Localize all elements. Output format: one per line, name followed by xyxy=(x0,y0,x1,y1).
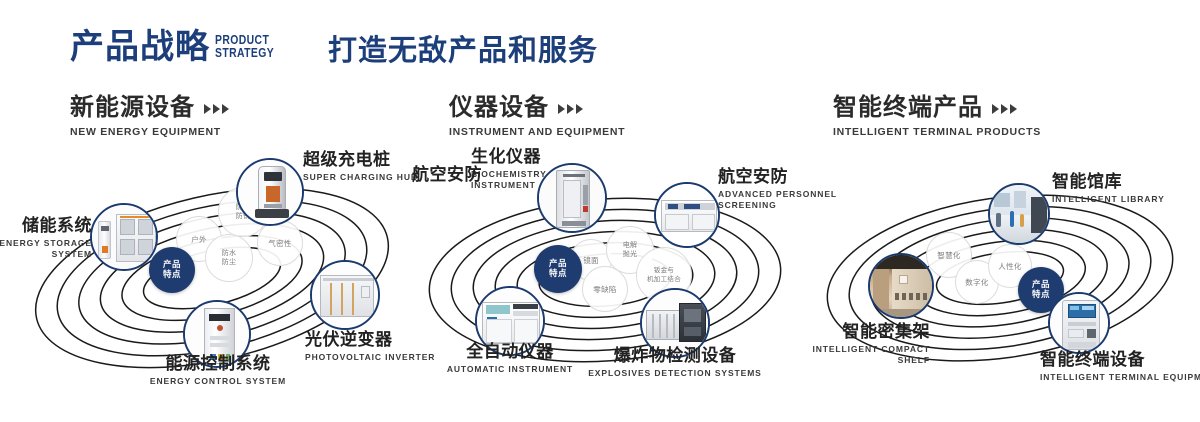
section-title-intelligent: 智能终端产品 xyxy=(833,92,983,122)
label-cn: 能源控制系统 xyxy=(95,354,341,374)
label-cn: 航空安防 xyxy=(412,165,532,185)
section-subtitle-new-energy: NEW ENERGY EQUIPMENT xyxy=(70,126,229,138)
core-bubble-product-features: 产品 特点 xyxy=(534,245,582,293)
feature-bubble-label: 零缺陷 xyxy=(593,285,616,294)
label-en: ENERGY CONTROL SYSTEM xyxy=(95,376,341,387)
label-energy-storage-system: 储能系统 ENERGY STORAGESYSTEM xyxy=(0,216,92,260)
label-cn: 生化仪器 xyxy=(471,147,621,167)
feature-bubble-label: 电解 xyxy=(623,241,638,250)
feature-bubble-label: 防水 xyxy=(222,249,237,258)
cluster-intelligent-terminal: 智慧化 数字化 人性化 产品 特点 智能馆库 xyxy=(800,150,1200,422)
section-heading-cn-wrap: 新能源设备 xyxy=(70,92,229,122)
feature-bubble: 气密性 xyxy=(257,220,303,266)
page-title: 产品战略 xyxy=(70,27,210,67)
section-heading-intelligent: 智能终端产品 INTELLIGENT TERMINAL PRODUCTS xyxy=(833,92,1041,138)
label-cn: 全自动仪器 xyxy=(395,342,625,362)
feature-bubble-label: 钣金与 xyxy=(654,266,674,275)
label-en: AUTOMATIC INSTRUMENT xyxy=(395,364,625,375)
node-photovoltaic-inverter[interactable] xyxy=(310,260,380,330)
core-bubble-line2: 特点 xyxy=(163,270,181,280)
energy-storage-cabinet-icon xyxy=(92,205,156,269)
chevron-right-icon xyxy=(992,104,1017,114)
product-strategy-infographic: 产品战略 PRODUCT STRATEGY 打造无敌产品和服务 新能源设备 NE… xyxy=(0,0,1200,422)
feature-bubble-label: 智慧化 xyxy=(937,251,960,260)
core-bubble-line2: 特点 xyxy=(549,269,567,279)
feature-bubble-label: 人性化 xyxy=(998,262,1021,271)
compact-shelving-icon xyxy=(870,255,932,317)
label-intelligent-library: 智能馆库 INTELLIGENT LIBRARY xyxy=(1052,172,1200,205)
label-automatic-instrument: 全自动仪器 AUTOMATIC INSTRUMENT xyxy=(395,342,625,375)
cluster-instrument: 镜面 电解抛光 钣金与机加工结合 零缺陷 产品 特点 xyxy=(400,150,820,422)
feature-bubble: 防水防尘 xyxy=(205,234,253,282)
feature-bubble-label2: 机加工结合 xyxy=(647,275,681,284)
section-heading-cn-wrap: 仪器设备 xyxy=(449,92,625,122)
label-aviation-security: 航空安防 xyxy=(412,165,532,185)
section-heading-cn-wrap: 智能终端产品 xyxy=(833,92,1041,122)
node-energy-storage-system[interactable] xyxy=(90,203,158,271)
node-super-charging-hub[interactable] xyxy=(236,158,304,226)
screening-machine-icon xyxy=(656,184,718,246)
headline: 打造无敌产品和服务 xyxy=(328,32,598,68)
feature-bubble-label2: 抛光 xyxy=(623,250,638,259)
feature-bubble: 零缺陷 xyxy=(582,266,628,312)
section-title-instrument: 仪器设备 xyxy=(449,92,549,122)
label-en: INTELLIGENT COMPACTSHELF xyxy=(740,344,930,366)
section-heading-instrument: 仪器设备 INSTRUMENT AND EQUIPMENT xyxy=(449,92,625,138)
feature-bubble-label: 镜面 xyxy=(583,256,599,265)
header: 产品战略 PRODUCT STRATEGY 打造无敌产品和服务 xyxy=(0,0,1200,88)
core-bubble-line1: 产品 xyxy=(549,259,567,269)
cluster-new-energy: 户外 防腐防锈 防水防尘 气密性 产品 特点 xyxy=(0,150,420,422)
charging-pile-icon xyxy=(238,160,302,224)
label-energy-control-system: 能源控制系统 ENERGY CONTROL SYSTEM xyxy=(95,354,341,387)
feature-bubble-label: 数字化 xyxy=(965,278,988,287)
node-intelligent-terminal-equipment[interactable] xyxy=(1048,292,1110,354)
label-en: INTELLIGENT LIBRARY xyxy=(1052,194,1200,205)
section-subtitle-intelligent: INTELLIGENT TERMINAL PRODUCTS xyxy=(833,126,1041,138)
node-intelligent-compact-shelf[interactable] xyxy=(868,253,934,319)
node-intelligent-library[interactable] xyxy=(988,183,1050,245)
section-title-new-energy: 新能源设备 xyxy=(70,92,195,122)
label-cn: 智能密集架 xyxy=(740,322,930,342)
core-bubble-line1: 产品 xyxy=(163,260,181,270)
chevron-right-icon xyxy=(204,104,229,114)
pv-inverter-cabinet-icon xyxy=(312,262,378,328)
label-cn: 智能终端设备 xyxy=(1040,350,1200,370)
label-intelligent-terminal-equipment: 智能终端设备 INTELLIGENT TERMINAL EQUIPMENT xyxy=(1040,350,1200,383)
feature-bubble-label: 户外 xyxy=(191,235,207,244)
node-advanced-personnel-screening[interactable] xyxy=(654,182,720,248)
section-subtitle-instrument: INSTRUMENT AND EQUIPMENT xyxy=(449,126,625,138)
label-en: ENERGY STORAGESYSTEM xyxy=(0,238,92,260)
library-interior-icon xyxy=(990,185,1048,243)
section-heading-new-energy: 新能源设备 NEW ENERGY EQUIPMENT xyxy=(70,92,229,138)
self-service-kiosk-icon xyxy=(1050,294,1108,352)
label-cn: 储能系统 xyxy=(0,216,92,236)
chevron-right-icon xyxy=(558,104,583,114)
core-bubble-line1: 产品 xyxy=(1032,280,1050,290)
brand-subtitle-line2: STRATEGY xyxy=(215,46,279,59)
core-bubble-line2: 特点 xyxy=(1032,290,1050,300)
feature-bubble-label2: 防尘 xyxy=(222,258,237,267)
brand-subtitle: PRODUCT STRATEGY xyxy=(215,33,279,59)
label-intelligent-compact-shelf: 智能密集架 INTELLIGENT COMPACTSHELF xyxy=(740,322,930,366)
label-en: INTELLIGENT TERMINAL EQUIPMENT xyxy=(1040,372,1200,383)
label-cn: 智能馆库 xyxy=(1052,172,1200,192)
feature-bubble-label: 气密性 xyxy=(268,239,291,248)
